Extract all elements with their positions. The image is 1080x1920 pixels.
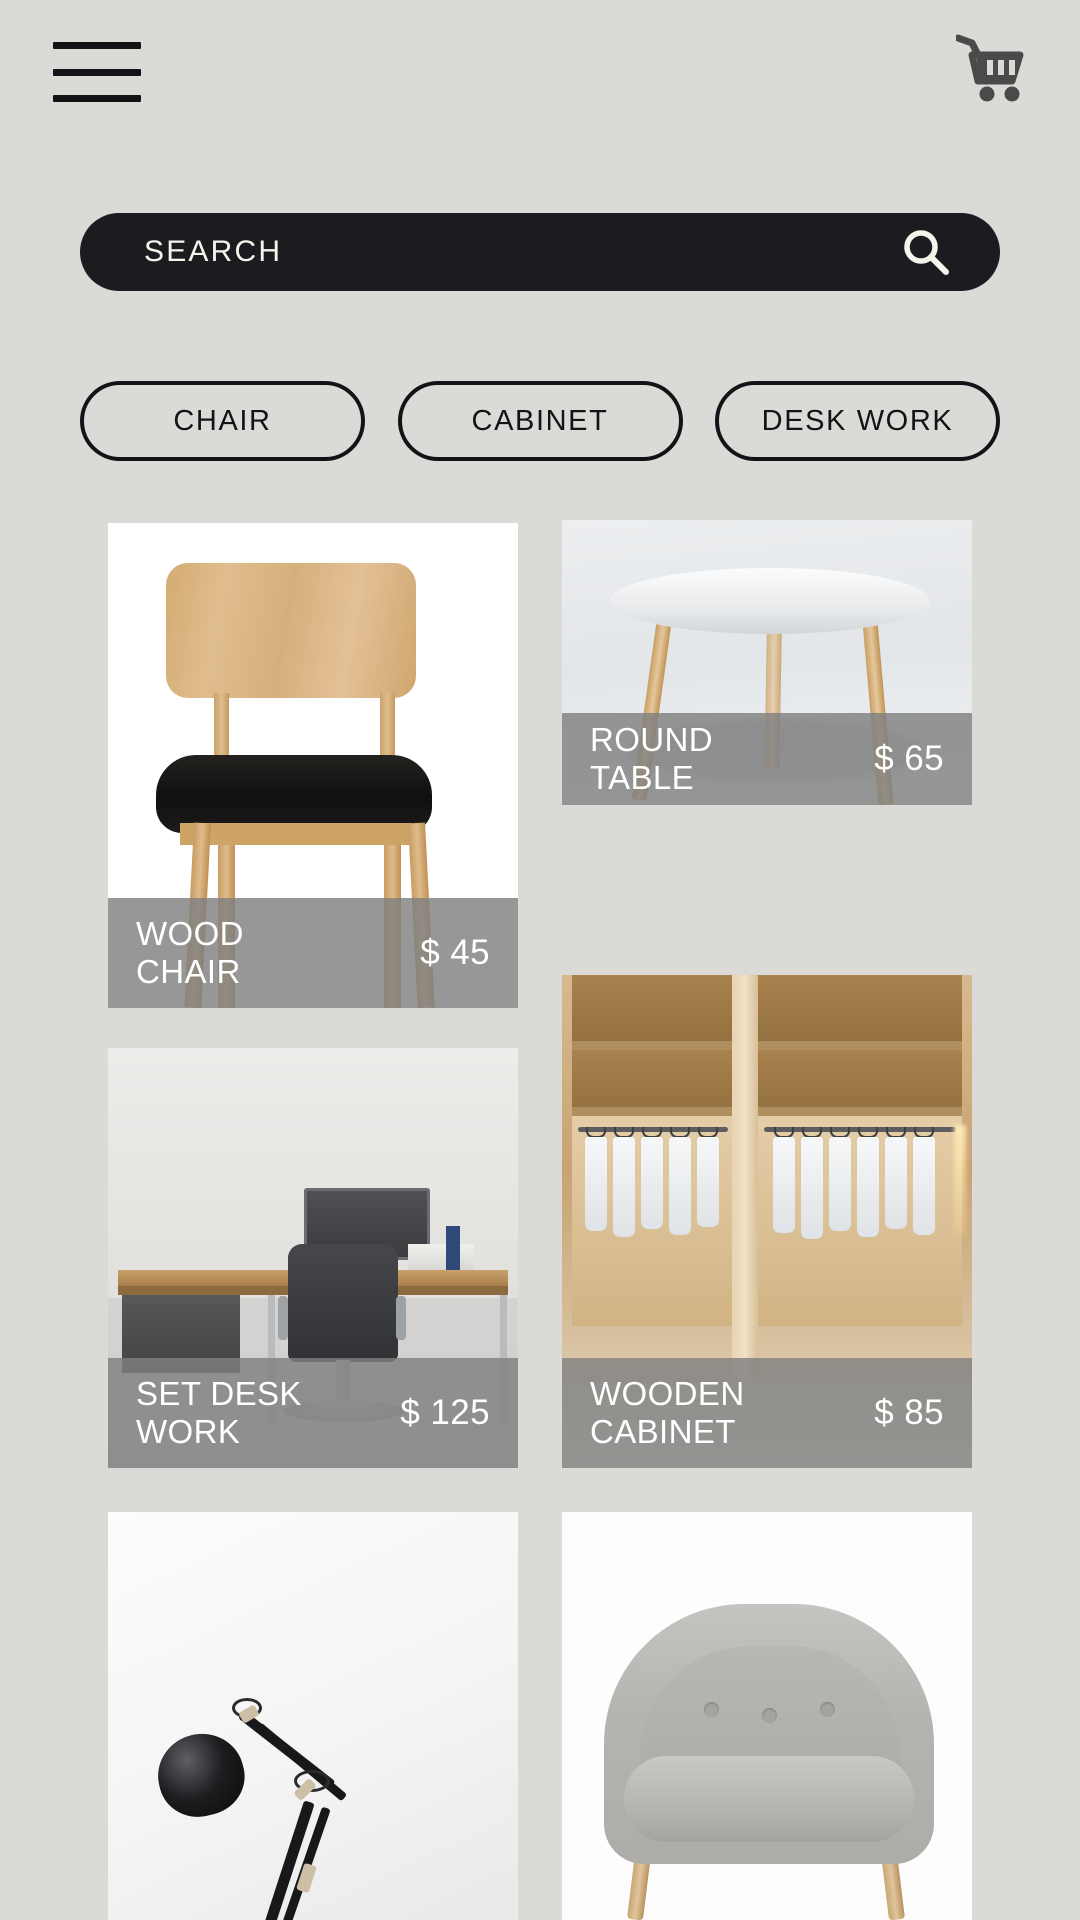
product-price-wood-chair: $ 45	[420, 933, 490, 973]
product-name-wooden-cabinet: WOODEN CABINET	[590, 1375, 745, 1451]
product-name-line2: WORK	[136, 1413, 240, 1450]
product-price-round-table: $ 65	[874, 739, 944, 779]
product-card-set-desk-work[interactable]: SET DESK WORK $ 125	[108, 1048, 518, 1468]
product-name-line2: CHAIR	[136, 953, 241, 990]
product-price-set-desk-work: $ 125	[400, 1393, 490, 1433]
armchair-photo	[562, 1512, 972, 1920]
product-grid: WOOD CHAIR $ 45 ROUND TABLE $	[0, 0, 1080, 1920]
product-label-band: WOODEN CABINET $ 85	[562, 1358, 972, 1468]
product-card-round-table[interactable]: ROUND TABLE $ 65	[562, 520, 972, 805]
product-name-round-table: ROUND TABLE	[590, 721, 713, 797]
app-screen: SEARCH CHAIR CABINET DESK WORK	[0, 0, 1080, 1920]
product-name-line1: ROUND	[590, 721, 713, 758]
product-name-line2: TABLE	[590, 759, 694, 796]
product-name-line1: WOODEN	[590, 1375, 745, 1412]
product-price-wooden-cabinet: $ 85	[874, 1393, 944, 1433]
product-card-wooden-cabinet[interactable]: WOODEN CABINET $ 85	[562, 975, 972, 1468]
product-name-line1: WOOD	[136, 915, 244, 952]
product-label-band: SET DESK WORK $ 125	[108, 1358, 518, 1468]
product-label-band: WOOD CHAIR $ 45	[108, 898, 518, 1008]
product-label-band: ROUND TABLE $ 65	[562, 713, 972, 805]
product-name-wood-chair: WOOD CHAIR	[136, 915, 244, 991]
product-name-set-desk-work: SET DESK WORK	[136, 1375, 302, 1451]
product-card-desk-lamp[interactable]	[108, 1512, 518, 1920]
product-card-wood-chair[interactable]: WOOD CHAIR $ 45	[108, 523, 518, 1008]
product-name-line2: CABINET	[590, 1413, 736, 1450]
product-card-armchair[interactable]	[562, 1512, 972, 1920]
desk-lamp-photo	[108, 1512, 518, 1920]
product-name-line1: SET DESK	[136, 1375, 302, 1412]
